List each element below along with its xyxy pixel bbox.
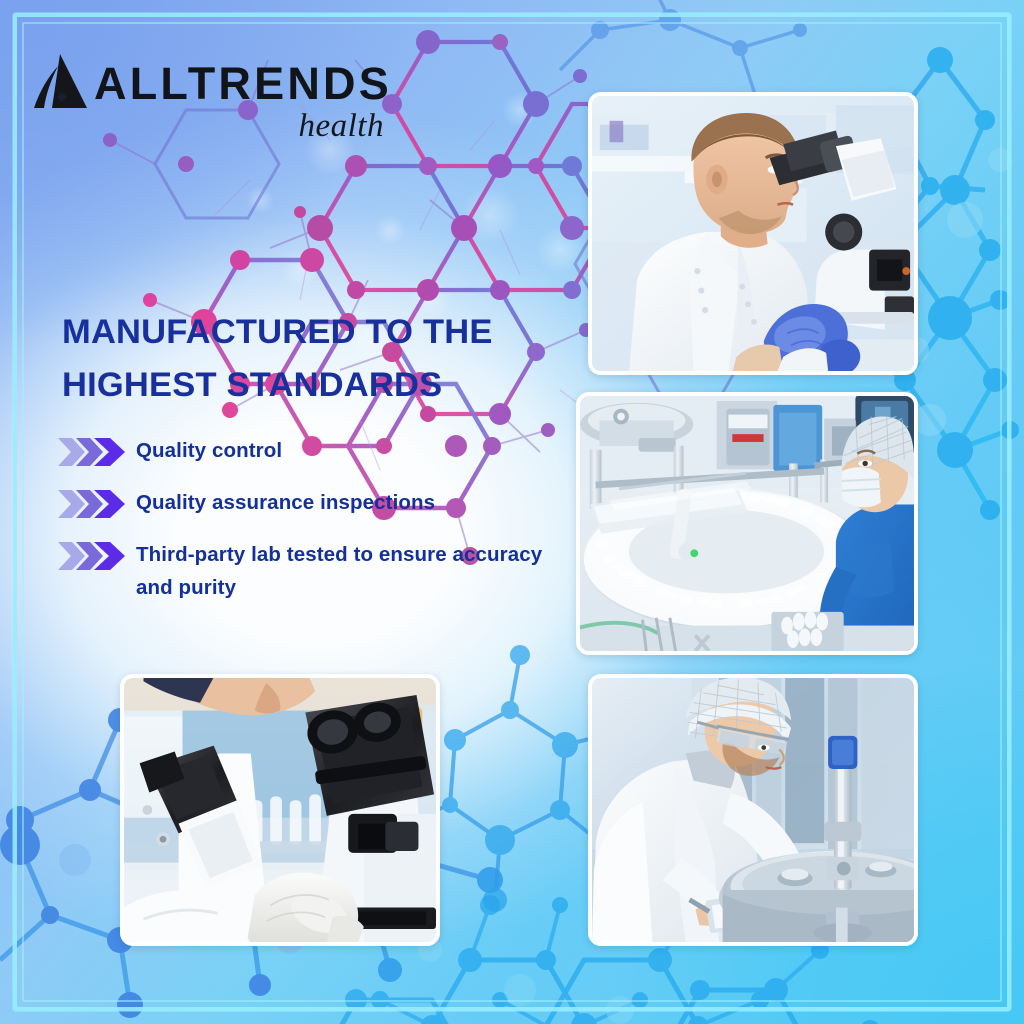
- triangle-a-logo-icon: [30, 50, 92, 112]
- brand-logo[interactable]: ALLTRENDS health: [30, 48, 392, 143]
- photo-image: [580, 396, 914, 651]
- photo-technician-clipboard[interactable]: [588, 674, 918, 946]
- triple-chevron-icon: [58, 488, 128, 520]
- list-item-label: Quality assurance inspections: [128, 486, 435, 519]
- photo-image: [592, 678, 914, 942]
- list-item: Quality control: [58, 434, 548, 468]
- poster-canvas: ALLTRENDS health MANUFACTURED TO THE HIG…: [0, 0, 1024, 1024]
- list-item: Quality assurance inspections: [58, 486, 548, 520]
- brand-tagline: health: [94, 110, 392, 143]
- list-item: Third-party lab tested to ensure accurac…: [58, 538, 548, 604]
- feature-list: Quality control Quality assurance inspec…: [58, 434, 548, 604]
- photo-image: [124, 678, 436, 942]
- photo-microscope-closeup[interactable]: [120, 674, 440, 946]
- photo-capsule-machine[interactable]: [576, 392, 918, 655]
- photo-image: [592, 96, 914, 371]
- page-title: MANUFACTURED TO THE HIGHEST STANDARDS: [62, 306, 562, 412]
- list-item-label: Quality control: [128, 434, 282, 467]
- triple-chevron-icon: [58, 436, 128, 468]
- headline-line-1: MANUFACTURED TO THE: [62, 313, 493, 351]
- triple-chevron-icon: [58, 540, 128, 572]
- photo-microscope-scientist[interactable]: [588, 92, 918, 375]
- headline-line-2: HIGHEST STANDARDS: [62, 359, 562, 412]
- brand-name: ALLTRENDS: [94, 61, 392, 106]
- list-item-label: Third-party lab tested to ensure accurac…: [128, 538, 548, 604]
